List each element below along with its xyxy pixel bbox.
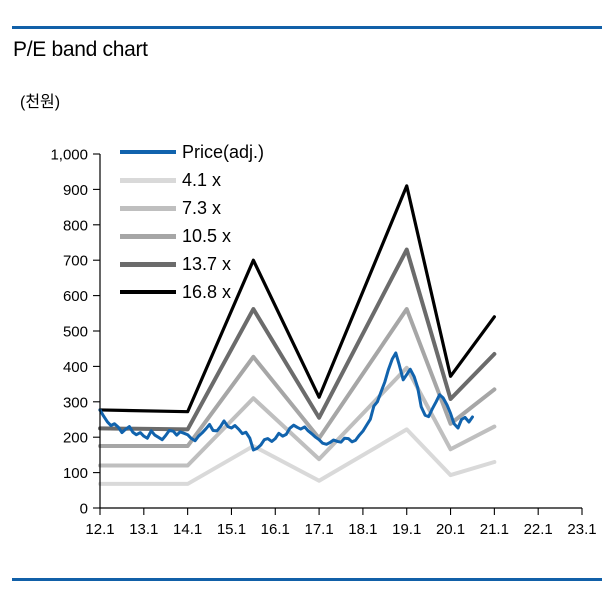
x-tick-label: 18.1 <box>348 521 377 538</box>
chart-page: P/E band chart (천원) 01002003004005006007… <box>0 0 614 595</box>
legend-item[interactable]: 7.3 x <box>120 194 264 222</box>
legend-swatch-line-icon <box>120 290 176 294</box>
y-tick-label: 300 <box>63 394 88 411</box>
y-axis-ticks: 01002003004005006007008009001,000 <box>50 147 100 518</box>
legend-swatch-line-icon <box>120 206 176 211</box>
y-tick-label: 100 <box>63 465 88 482</box>
legend-item-label: 13.7 x <box>182 255 231 273</box>
y-tick-label: 200 <box>63 430 88 447</box>
y-tick-label: 0 <box>80 501 88 518</box>
x-tick-label: 16.1 <box>261 521 290 538</box>
legend-item-label: 7.3 x <box>182 199 221 217</box>
legend-swatch-line-icon <box>120 262 176 267</box>
legend-swatch-line-icon <box>120 234 176 239</box>
y-tick-label: 700 <box>63 253 88 270</box>
x-tick-label: 14.1 <box>173 521 202 538</box>
y-tick-label: 900 <box>63 182 88 199</box>
chart-legend: Price(adj.)4.1 x7.3 x10.5 x13.7 x16.8 x <box>120 138 264 306</box>
legend-item-label: 4.1 x <box>182 171 221 189</box>
legend-item[interactable]: 10.5 x <box>120 222 264 250</box>
plot-area: 01002003004005006007008009001,000 12.113… <box>0 0 614 595</box>
legend-item[interactable]: 13.7 x <box>120 250 264 278</box>
legend-item[interactable]: 4.1 x <box>120 166 264 194</box>
y-tick-label: 800 <box>63 217 88 234</box>
legend-swatch-line-icon <box>120 150 176 154</box>
legend-swatch-line-icon <box>120 178 176 183</box>
y-tick-label: 400 <box>63 359 88 376</box>
legend-item-label: 10.5 x <box>182 227 231 245</box>
series-line-10-5-x <box>100 309 494 446</box>
y-tick-label: 1,000 <box>50 147 88 164</box>
legend-item-label: 16.8 x <box>182 283 231 301</box>
y-tick-label: 600 <box>63 288 88 305</box>
x-tick-label: 19.1 <box>392 521 421 538</box>
x-tick-label: 12.1 <box>85 521 114 538</box>
x-tick-label: 13.1 <box>129 521 158 538</box>
chart-svg: 01002003004005006007008009001,000 12.113… <box>0 0 614 595</box>
x-tick-label: 17.1 <box>304 521 333 538</box>
x-tick-label: 20.1 <box>436 521 465 538</box>
x-tick-label: 23.1 <box>567 521 596 538</box>
x-tick-label: 15.1 <box>217 521 246 538</box>
y-tick-label: 500 <box>63 324 88 341</box>
x-tick-label: 21.1 <box>480 521 509 538</box>
footer-rule-bottom <box>12 578 602 581</box>
legend-item[interactable]: 16.8 x <box>120 278 264 306</box>
x-tick-label: 22.1 <box>524 521 553 538</box>
legend-item[interactable]: Price(adj.) <box>120 138 264 166</box>
series-line-price-adj <box>100 353 472 450</box>
legend-item-label: Price(adj.) <box>182 143 264 161</box>
x-axis-ticks: 12.113.114.115.116.117.118.119.120.121.1… <box>85 508 596 538</box>
